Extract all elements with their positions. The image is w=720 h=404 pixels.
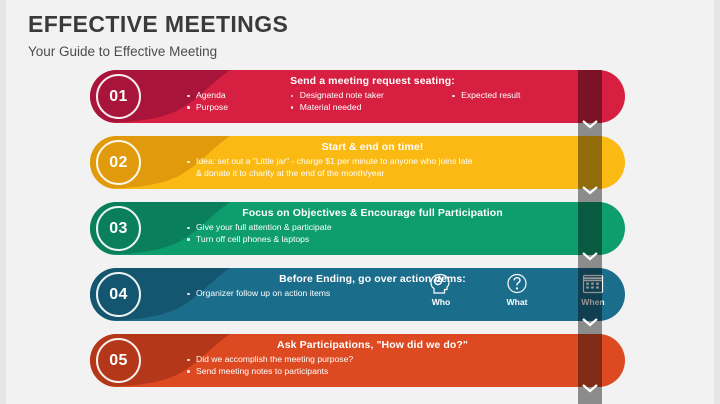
icon-label: Who xyxy=(420,297,462,307)
page-title: EFFECTIVE MEETINGS xyxy=(28,12,288,37)
bullet-column: Agenda Purpose xyxy=(185,90,289,113)
step-number-ring: 02 xyxy=(96,140,141,185)
step-number-ring: 04 xyxy=(96,272,141,317)
step-number-label: 02 xyxy=(109,154,127,172)
step-content: Focus on Objectives & Encourage full Par… xyxy=(185,202,720,255)
head-gear-icon xyxy=(420,272,462,296)
step-headline: Ask Participations, "How did we do?" xyxy=(185,334,560,351)
list-item[interactable]: 02 Start & end on time! Idea: set out a … xyxy=(0,136,720,189)
question-mark-circle-icon xyxy=(496,272,538,296)
step-headline: Start & end on time! xyxy=(185,136,560,153)
list-item: Turn off cell phones & laptops xyxy=(185,234,575,246)
chevron-down-icon xyxy=(582,384,598,393)
bullet-column: Designated note taker Material needed xyxy=(289,90,450,113)
step-number-badge: 01 xyxy=(95,73,142,120)
step-headline: Send a meeting request seating: xyxy=(185,70,560,87)
step-number-badge: 03 xyxy=(95,205,142,252)
step-number-badge: 02 xyxy=(95,139,142,186)
icon-item-who[interactable]: Who xyxy=(420,272,462,307)
list-item: Agenda xyxy=(185,90,289,102)
bullet-column: Expected result xyxy=(450,90,575,113)
list-item: Expected result xyxy=(450,90,575,102)
step-bullets: Did we accomplish the meeting purpose? S… xyxy=(185,354,575,377)
step-headline: Focus on Objectives & Encourage full Par… xyxy=(185,202,560,219)
chevron-down-icon xyxy=(582,318,598,327)
list-item: Give your full attention & participate xyxy=(185,222,575,234)
icon-label: What xyxy=(496,297,538,307)
step-content: Send a meeting request seating: Agenda P… xyxy=(185,70,720,123)
list-item[interactable]: 04 Before Ending, go over action items: … xyxy=(0,268,720,321)
icon-item-what[interactable]: What xyxy=(496,272,538,307)
step-bullets: Agenda Purpose Designated note taker Mat… xyxy=(185,90,575,113)
slide-canvas: EFFECTIVE MEETINGS Your Guide to Effecti… xyxy=(0,0,720,404)
list-item: Purpose xyxy=(185,102,289,114)
page-subtitle: Your Guide to Effective Meeting xyxy=(28,45,288,60)
list-item: Did we accomplish the meeting purpose? xyxy=(185,354,575,366)
step-content: Ask Participations, "How did we do?" Did… xyxy=(185,334,720,387)
step-number-ring: 01 xyxy=(96,74,141,119)
step-bullets: Idea: set out a "Little jar" - charge $1… xyxy=(185,156,575,179)
chevron-down-icon xyxy=(582,252,598,261)
step-content: Start & end on time! Idea: set out a "Li… xyxy=(185,136,720,189)
step-number-ring: 03 xyxy=(96,206,141,251)
list-item[interactable]: 01 Send a meeting request seating: Agend… xyxy=(0,70,720,123)
chevron-down-icon xyxy=(582,186,598,195)
list-item: Idea: set out a "Little jar" - charge $1… xyxy=(185,156,575,168)
list-item: Material needed xyxy=(289,102,450,114)
list-item-continuation: & donate it to charity at the end of the… xyxy=(185,168,575,180)
step-number-label: 03 xyxy=(109,220,127,238)
list-item: Designated note taker xyxy=(289,90,450,102)
step-number-badge: 05 xyxy=(95,337,142,384)
step-number-label: 04 xyxy=(109,286,127,304)
list-item[interactable]: 03 Focus on Objectives & Encourage full … xyxy=(0,202,720,255)
steps-list: 01 Send a meeting request seating: Agend… xyxy=(0,70,720,400)
step-content: Before Ending, go over action items: Org… xyxy=(185,268,720,321)
chevron-down-icon xyxy=(582,120,598,129)
step-bullets: Give your full attention & participate T… xyxy=(185,222,575,245)
step-number-ring: 05 xyxy=(96,338,141,383)
slide-header: EFFECTIVE MEETINGS Your Guide to Effecti… xyxy=(28,12,288,60)
step-number-badge: 04 xyxy=(95,271,142,318)
step-number-label: 01 xyxy=(109,88,127,106)
list-item[interactable]: 05 Ask Participations, "How did we do?" … xyxy=(0,334,720,387)
step-number-label: 05 xyxy=(109,352,127,370)
list-item: Send meeting notes to participants xyxy=(185,366,575,378)
